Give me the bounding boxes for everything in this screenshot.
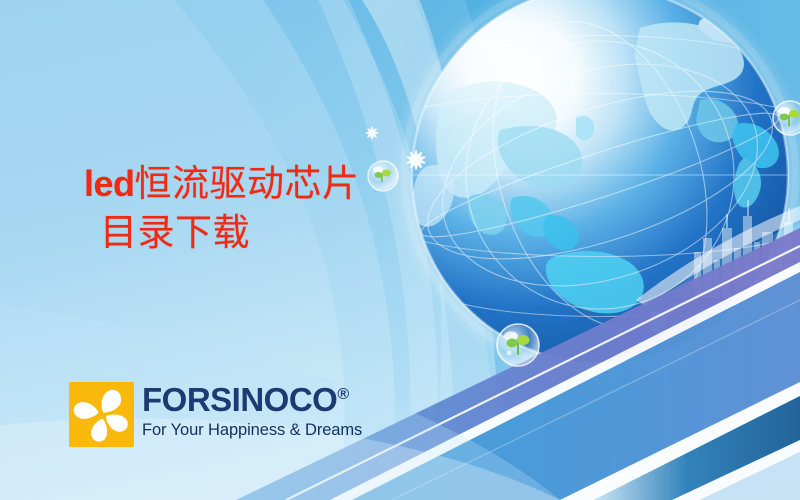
- logo-wordmark-text: FORSINOCO: [142, 381, 337, 418]
- logo-wordmark: FORSINOCO®: [142, 383, 362, 416]
- registered-trademark-icon: ®: [337, 386, 349, 403]
- logo-text-block: FORSINOCO® For Your Happiness & Dreams: [142, 382, 362, 439]
- headline-line-1: led恒流驱动芯片: [84, 160, 360, 209]
- headline-latin-led: led: [84, 163, 135, 204]
- forsinoco-logo: FORSINOCO® For Your Happiness & Dreams: [69, 382, 362, 447]
- forsinoco-flower-mark: [69, 382, 134, 447]
- headline-line-2: 目录下载: [84, 209, 360, 258]
- bubble-with-sprout-right: [773, 101, 800, 135]
- marketing-banner: led恒流驱动芯片 目录下载 FORSINOCO® For Your Happi…: [0, 0, 800, 500]
- bubble-with-sprout-mid: [497, 324, 539, 366]
- logo-tagline: For Your Happiness & Dreams: [142, 422, 362, 439]
- bubble-with-sprout-top: [368, 161, 398, 191]
- headline-block: led恒流驱动芯片 目录下载: [84, 160, 360, 258]
- sparkle-star-large: [406, 150, 426, 170]
- headline-cjk-part: 恒流驱动芯片: [135, 162, 360, 205]
- sparkle-star-small: [366, 127, 379, 140]
